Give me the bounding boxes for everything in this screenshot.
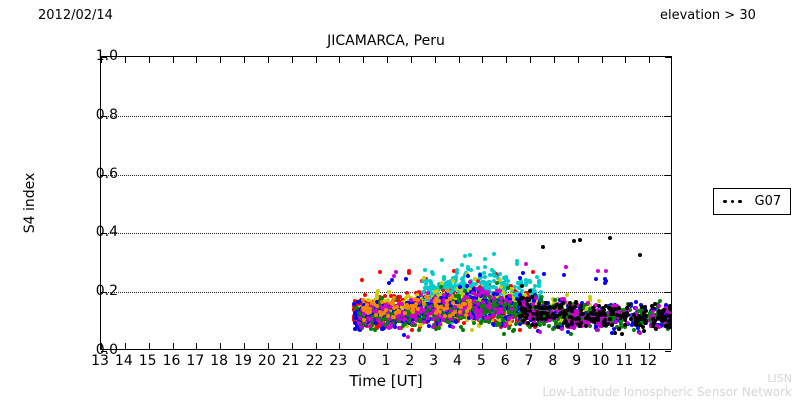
scatter-point (438, 322, 442, 326)
scatter-point (504, 322, 508, 326)
scatter-point (448, 297, 452, 301)
scatter-point (481, 300, 485, 304)
y-axis-title: S4 index (22, 173, 38, 234)
scatter-point (508, 321, 512, 325)
scatter-point (360, 325, 364, 329)
scatter-point (392, 315, 396, 319)
scatter-point (518, 328, 522, 332)
scatter-point (493, 307, 497, 311)
scatter-point (519, 296, 523, 300)
scatter-point (610, 323, 614, 327)
x-tick-label: 18 (210, 353, 228, 369)
scatter-point (632, 328, 636, 332)
scatter-point (449, 285, 453, 289)
scatter-point (437, 326, 441, 330)
scatter-point (470, 328, 474, 332)
scatter-point (521, 271, 525, 275)
scatter-point (602, 323, 606, 327)
scatter-point (460, 263, 464, 267)
scatter-point (488, 302, 492, 306)
scatter-point (363, 293, 367, 297)
scatter-point (414, 317, 418, 321)
scatter-point (434, 304, 438, 308)
scatter-point (541, 245, 545, 249)
scatter-point (422, 320, 426, 324)
scatter-point (657, 311, 661, 315)
scatter-point (604, 269, 608, 273)
scatter-point (572, 326, 576, 330)
scatter-point (483, 265, 487, 269)
y-tick-label: 1.0 (96, 48, 118, 64)
scatter-point (443, 314, 447, 318)
scatter-point (496, 311, 500, 315)
scatter-point (654, 327, 658, 331)
scatter-point (378, 270, 382, 274)
scatter-point (638, 253, 642, 257)
scatter-point (492, 297, 496, 301)
scatter-point (542, 306, 546, 310)
chart-title: JICAMARCA, Peru (0, 33, 772, 49)
scatter-point (614, 320, 618, 324)
scatter-point (355, 306, 359, 310)
scatter-point (423, 268, 427, 272)
scatter-point (576, 322, 580, 326)
y-tick-label: 0.2 (96, 283, 118, 299)
scatter-point (528, 279, 532, 283)
scatter-point (594, 277, 598, 281)
scatter-point (595, 313, 599, 317)
scatter-point (353, 314, 357, 318)
scatter-point (657, 304, 661, 308)
y-tick-label: 0.8 (96, 107, 118, 123)
scatter-point (559, 303, 563, 307)
x-tick-label: 8 (548, 353, 557, 369)
x-tick-label: 13 (91, 353, 109, 369)
plot-area (100, 56, 672, 350)
watermark: LISN Low-Latitude Ionospheric Sensor Net… (542, 373, 792, 399)
scatter-point (531, 317, 535, 321)
scatter-point (416, 298, 420, 302)
x-tick-label: 12 (639, 353, 657, 369)
scatter-point (530, 323, 534, 327)
scatter-point (368, 318, 372, 322)
scatter-point (362, 308, 366, 312)
scatter-point (597, 304, 601, 308)
scatter-point (525, 297, 529, 301)
scatter-point (392, 274, 396, 278)
scatter-point (451, 301, 455, 305)
scatter-point (483, 257, 487, 261)
scatter-point (463, 302, 467, 306)
x-tick-label: 5 (477, 353, 486, 369)
scatter-point (524, 283, 528, 287)
scatter-point (620, 332, 624, 336)
scatter-point (428, 305, 432, 309)
scatter-point (559, 311, 563, 315)
scatter-point (499, 301, 503, 305)
x-tick-label: 22 (306, 353, 324, 369)
scatter-point (431, 325, 435, 329)
x-tick-label: 17 (186, 353, 204, 369)
scatter-point (410, 328, 414, 332)
x-tick-label: 15 (139, 353, 157, 369)
scatter-point (469, 268, 473, 272)
scatter-point (475, 287, 479, 291)
x-tick-label: 0 (358, 353, 367, 369)
scatter-point (455, 271, 459, 275)
scatter-point (604, 279, 608, 283)
scatter-point (539, 295, 543, 299)
scatter-point (514, 322, 518, 326)
scatter-point (551, 327, 555, 331)
scatter-point (562, 273, 566, 277)
scatter-point (479, 308, 483, 312)
scatter-point (546, 313, 550, 317)
scatter-point (596, 328, 600, 332)
scatter-point (474, 306, 478, 310)
scatter-point (668, 325, 671, 329)
scatter-point (360, 278, 364, 282)
scatter-point (480, 319, 484, 323)
scatter-point (642, 329, 646, 333)
scatter-point (394, 270, 398, 274)
scatter-point (375, 304, 379, 308)
scatter-point (625, 306, 629, 310)
scatter-point (472, 321, 476, 325)
scatter-point (554, 321, 558, 325)
scatter-point (531, 270, 535, 274)
scatter-point (564, 265, 568, 269)
scatter-point (572, 239, 576, 243)
scatter-point (668, 304, 671, 308)
scatter-point (524, 262, 528, 266)
scatter-point (440, 258, 444, 262)
scatter-point (403, 305, 407, 309)
y-axis-tick (665, 351, 671, 352)
scatter-point (525, 302, 529, 306)
legend-entry-label: G07 (755, 194, 782, 209)
y-tick-label: 0.4 (96, 224, 118, 240)
legend[interactable]: G07 (713, 188, 791, 215)
scatter-points (101, 57, 671, 349)
scatter-point (528, 289, 532, 293)
scatter-point (483, 275, 487, 279)
scatter-point (407, 269, 411, 273)
x-tick-label: 1 (382, 353, 391, 369)
scatter-point (406, 335, 410, 339)
scatter-point (434, 297, 438, 301)
scatter-point (466, 274, 470, 278)
scatter-point (365, 303, 369, 307)
scatter-point (538, 330, 542, 334)
x-tick-label: 16 (163, 353, 181, 369)
scatter-point (657, 315, 661, 319)
scatter-point (387, 290, 391, 294)
watermark-full-name: Low-Latitude Ionospheric Sensor Network (542, 386, 792, 400)
scatter-point (465, 309, 469, 313)
scatter-point (390, 278, 394, 282)
x-tick-label: 23 (329, 353, 347, 369)
scatter-point (537, 281, 541, 285)
date-label: 2012/02/14 (38, 8, 113, 23)
scatter-point (530, 295, 534, 299)
scatter-point (468, 253, 472, 257)
x-tick-label: 20 (258, 353, 276, 369)
scatter-point (378, 310, 382, 314)
scatter-point (374, 313, 378, 317)
scatter-point (480, 287, 484, 291)
scatter-point (617, 327, 621, 331)
x-tick-label: 6 (501, 353, 510, 369)
scatter-point (599, 313, 603, 317)
scatter-point (451, 312, 455, 316)
scatter-point (479, 281, 483, 285)
scatter-point (422, 276, 426, 280)
x-tick-label: 3 (429, 353, 438, 369)
scatter-point (613, 331, 617, 335)
scatter-point (422, 302, 426, 306)
scatter-point (373, 328, 377, 332)
scatter-point (380, 300, 384, 304)
x-tick-label: 7 (525, 353, 534, 369)
x-tick-label: 2 (405, 353, 414, 369)
scatter-point (468, 312, 472, 316)
scatter-point (404, 277, 408, 281)
scatter-point (461, 298, 465, 302)
scatter-point (578, 238, 582, 242)
scatter-point (453, 305, 457, 309)
scatter-point (609, 312, 613, 316)
scatter-point (534, 296, 538, 300)
scatter-point (594, 317, 598, 321)
scatter-point (409, 314, 413, 318)
scatter-point (368, 324, 372, 328)
legend-marker-dot-icon (723, 200, 727, 204)
scatter-point (380, 327, 384, 331)
scatter-point (391, 300, 395, 304)
x-tick-label: 21 (282, 353, 300, 369)
x-tick-label: 14 (115, 353, 133, 369)
scatter-point (512, 328, 516, 332)
scatter-point (536, 317, 540, 321)
legend-marker-dot-icon (738, 200, 742, 204)
scatter-point (520, 314, 524, 318)
scatter-point (638, 331, 642, 335)
scatter-point (547, 324, 551, 328)
x-tick-label: 19 (234, 353, 252, 369)
legend-marker-dot-icon (731, 200, 735, 204)
scatter-point (486, 290, 490, 294)
scatter-point (428, 279, 432, 283)
scatter-point (463, 254, 467, 258)
y-tick-label: 0.6 (96, 166, 118, 182)
scatter-point (435, 309, 439, 313)
scatter-point (432, 317, 436, 321)
scatter-point (431, 272, 435, 276)
scatter-point (409, 304, 413, 308)
scatter-point (502, 276, 506, 280)
scatter-point (492, 252, 496, 256)
x-tick-label: 9 (572, 353, 581, 369)
scatter-point (439, 285, 443, 289)
scatter-point (634, 321, 638, 325)
scatter-point (379, 321, 383, 325)
scatter-point (495, 323, 499, 327)
watermark-abbr: LISN (542, 373, 792, 386)
scatter-point (476, 266, 480, 270)
scatter-point (451, 325, 455, 329)
scatter-point (389, 325, 393, 329)
scatter-point (397, 309, 401, 313)
scatter-point (577, 317, 581, 321)
scatter-point (660, 319, 664, 323)
scatter-point (403, 311, 407, 315)
scatter-point (634, 300, 638, 304)
scatter-point (608, 236, 612, 240)
scatter-point (555, 303, 559, 307)
scatter-point (570, 320, 574, 324)
scatter-point (608, 317, 612, 321)
scatter-point (520, 284, 524, 288)
scatter-point (476, 302, 480, 306)
scatter-point (521, 319, 525, 323)
x-tick-label: 11 (615, 353, 633, 369)
scatter-point (506, 286, 510, 290)
scatter-point (474, 282, 478, 286)
scatter-point (560, 327, 564, 331)
x-tick-label: 4 (453, 353, 462, 369)
scatter-point (596, 269, 600, 273)
scatter-point (411, 310, 415, 314)
scatter-point (366, 311, 370, 315)
scatter-point (588, 317, 592, 321)
scatter-point (510, 307, 514, 311)
elevation-filter-label: elevation > 30 (660, 8, 756, 23)
scatter-point (524, 309, 528, 313)
scatter-point (493, 274, 497, 278)
scatter-point (499, 285, 503, 289)
scatter-point (584, 324, 588, 328)
scatter-point (495, 281, 499, 285)
scatter-point (597, 299, 601, 303)
scatter-point (569, 332, 573, 336)
scatter-point (568, 301, 572, 305)
scatter-point (535, 275, 539, 279)
scatter-point (504, 298, 508, 302)
x-tick-label: 10 (592, 353, 610, 369)
scatter-point (634, 306, 638, 310)
scatter-point (417, 328, 421, 332)
scatter-point (475, 313, 479, 317)
scatter-point (617, 306, 621, 310)
scatter-point (560, 297, 564, 301)
scatter-point (542, 272, 546, 276)
scatter-point (502, 332, 506, 336)
scatter-point (472, 299, 476, 303)
